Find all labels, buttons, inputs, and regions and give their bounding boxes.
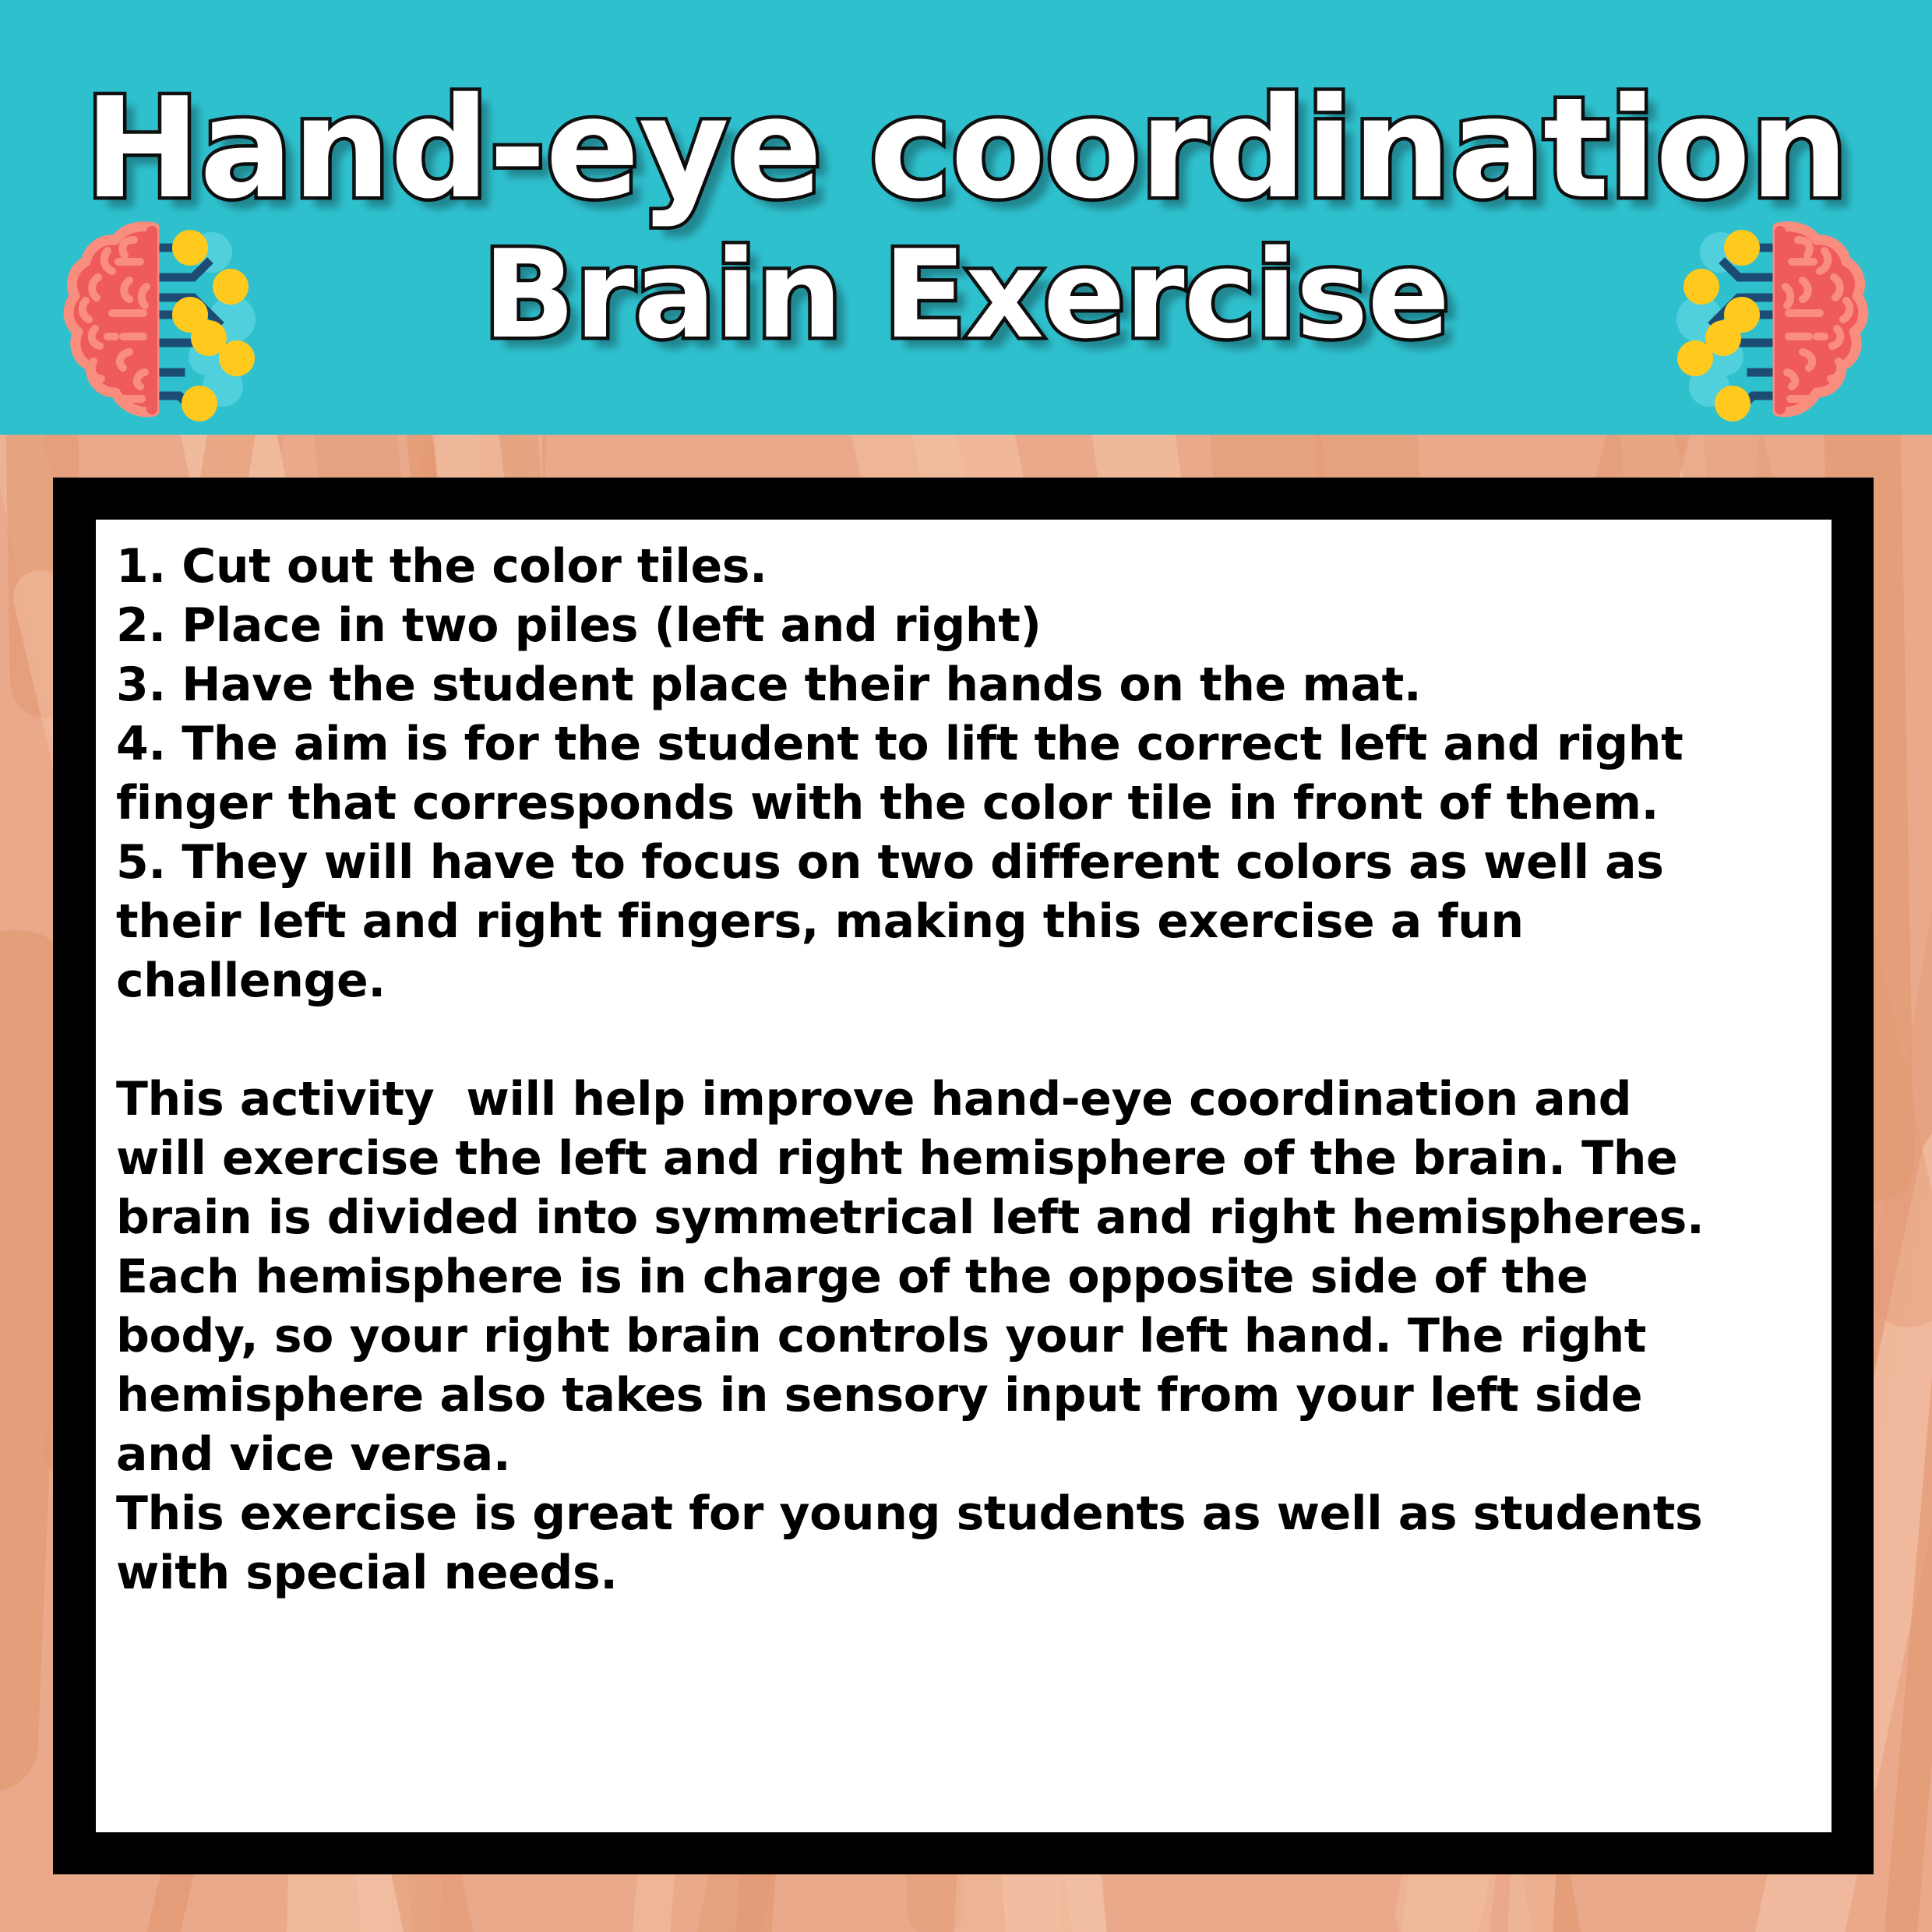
instruction-line: This activity will help improve hand-eye… <box>116 1070 1811 1129</box>
instruction-line: This exercise is great for young student… <box>116 1484 1811 1543</box>
instruction-line: brain is divided into symmetrical left a… <box>116 1188 1811 1247</box>
paragraph-spacer <box>116 1010 1811 1070</box>
instruction-line: 4. The aim is for the student to lift th… <box>116 714 1811 774</box>
instruction-line: 5. They will have to focus on two differ… <box>116 833 1811 892</box>
instruction-line: will exercise the left and right hemisph… <box>116 1129 1811 1188</box>
instructions-text-block: 1. Cut out the color tiles.2. Place in t… <box>96 520 1832 1602</box>
instruction-line: 2. Place in two piles (left and right) <box>116 596 1811 655</box>
instruction-line: body, so your right brain controls your … <box>116 1306 1811 1366</box>
instruction-line: with special needs. <box>116 1543 1811 1602</box>
brain-circuit-icon <box>1673 220 1870 424</box>
instruction-line: Each hemisphere is in charge of the oppo… <box>116 1247 1811 1306</box>
instruction-line: 1. Cut out the color tiles. <box>116 537 1811 596</box>
instruction-line: 3. Have the student place their hands on… <box>116 655 1811 714</box>
brain-circuit-icon <box>62 220 259 424</box>
instruction-line: hemisphere also takes in sensory input f… <box>116 1366 1811 1425</box>
instruction-line: finger that corresponds with the color t… <box>116 774 1811 833</box>
instruction-line: challenge. <box>116 951 1811 1010</box>
header-band <box>0 0 1932 435</box>
instruction-line: and vice versa. <box>116 1425 1811 1484</box>
instructions-card: 1. Cut out the color tiles.2. Place in t… <box>96 520 1832 1832</box>
instruction-line: their left and right fingers, making thi… <box>116 892 1811 951</box>
